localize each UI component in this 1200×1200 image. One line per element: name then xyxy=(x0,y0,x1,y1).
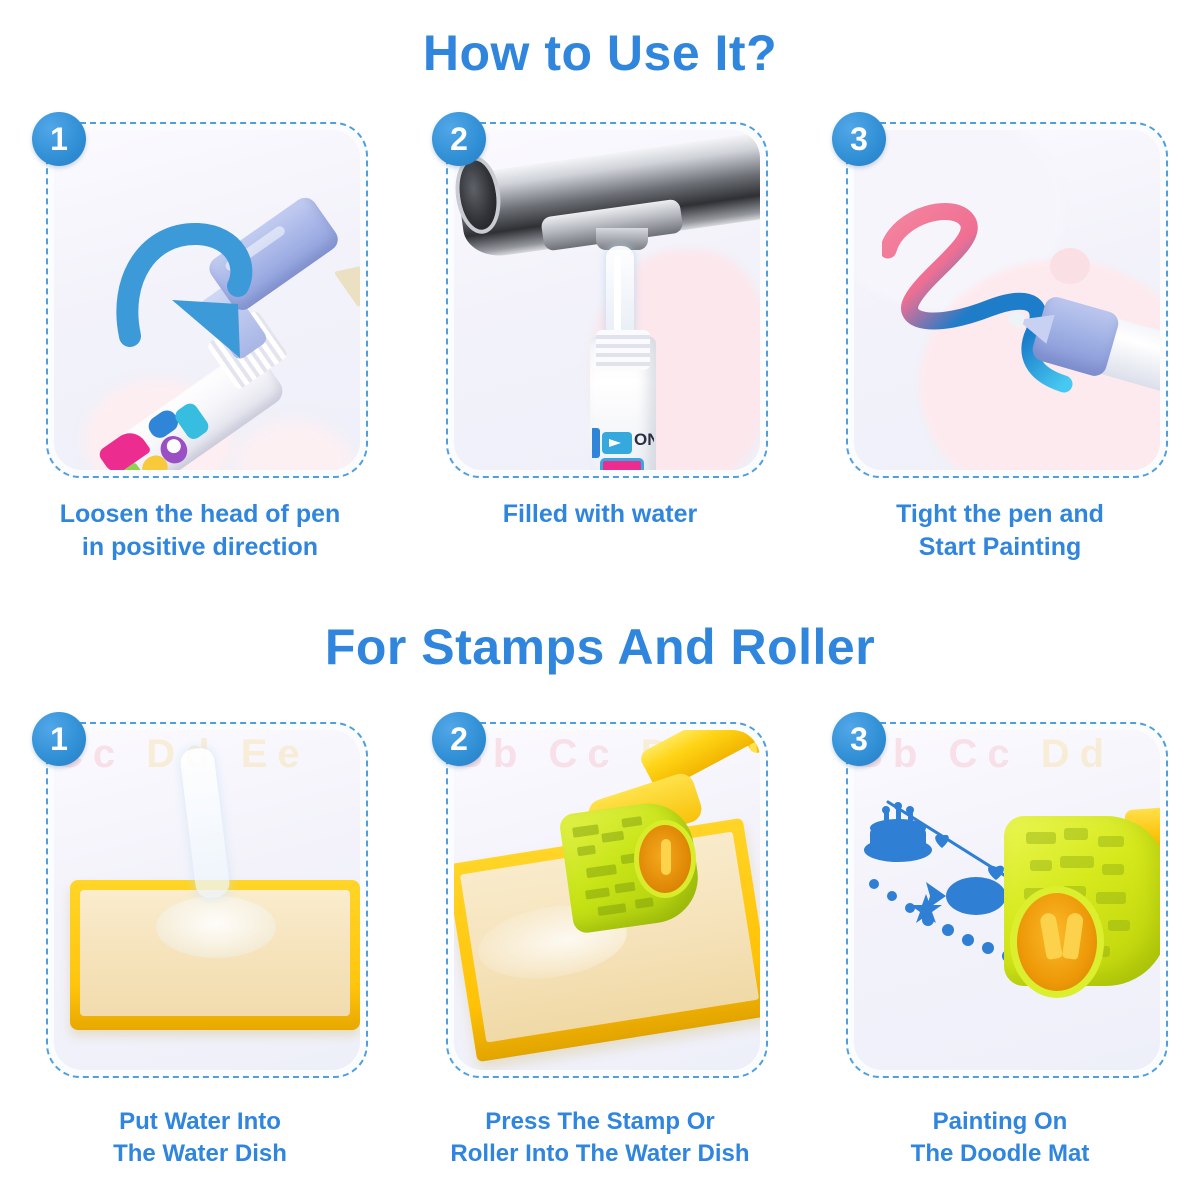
step-3-caption: Tight the pen and Start Painting xyxy=(810,498,1190,565)
section-title-for-stamps-and-roller: For Stamps And Roller xyxy=(0,622,1200,672)
step-badge-4: 1 xyxy=(32,712,86,766)
step-1-photo-pen-loosen xyxy=(54,130,360,470)
step-3-panel xyxy=(846,122,1168,478)
pen-felt-tip xyxy=(333,242,360,308)
step-6-caption: Painting On The Doodle Mat xyxy=(810,1106,1190,1170)
pen-barrel-artwork xyxy=(97,385,229,470)
step-badge-2: 2 xyxy=(432,112,486,166)
stamp-roller xyxy=(562,758,760,978)
rotation-arrow-icon xyxy=(112,208,282,368)
step-card-1: 1 xyxy=(0,112,400,565)
mat-letter: Cc xyxy=(948,732,1019,776)
water-dish xyxy=(70,880,360,1030)
step-6-panel: Bb Cc Dd xyxy=(846,722,1168,1078)
step-2-panel-wrap: 2 ON xyxy=(432,112,768,478)
label-blue-mark xyxy=(592,428,600,458)
step-card-6: 3 Bb Cc Dd xyxy=(800,712,1200,1170)
step-5-panel: Bb Cc Dd xyxy=(446,722,768,1078)
step-2-caption: Filled with water xyxy=(410,498,790,531)
step-2-panel: ON xyxy=(446,122,768,478)
mat-letter: Ee xyxy=(241,732,310,776)
step-4-caption: Put Water Into The Water Dish xyxy=(10,1106,390,1170)
hub-tooth xyxy=(1039,912,1063,960)
label-pink-block xyxy=(600,458,644,470)
step-3-photo-painting xyxy=(854,130,1160,470)
step-4-panel: Cc Dd Ee xyxy=(46,722,368,1078)
steps-row-stamps-roller: 1 Cc Dd Ee xyxy=(0,712,1200,1170)
water-splash xyxy=(156,896,276,958)
pen-barrel-threaded-neck xyxy=(596,330,650,370)
stamp-roller xyxy=(1004,808,1160,1008)
step-card-3: 3 xyxy=(800,112,1200,565)
hub-tooth xyxy=(1062,912,1084,960)
infographic-page: How to Use It? 1 xyxy=(0,0,1200,1200)
step-3-panel-wrap: 3 xyxy=(832,112,1168,478)
step-badge-3: 3 xyxy=(832,112,886,166)
step-5-panel-wrap: 2 Bb Cc Dd xyxy=(432,712,768,1078)
step-badge-1: 1 xyxy=(32,112,86,166)
mat-letter: Dd xyxy=(1041,732,1114,776)
step-5-photo-press-roller: Bb Cc Dd xyxy=(454,730,760,1070)
step-1-panel xyxy=(46,122,368,478)
step-card-4: 1 Cc Dd Ee xyxy=(0,712,400,1170)
pen-barrel-label: ON xyxy=(592,426,654,470)
steps-row-how-to-use: 1 xyxy=(0,112,1200,565)
step-4-panel-wrap: 1 Cc Dd Ee xyxy=(32,712,368,1078)
step-badge-5: 2 xyxy=(432,712,486,766)
roller-hub xyxy=(634,820,696,898)
label-arrow-icon xyxy=(602,432,632,454)
roller-hub xyxy=(1010,886,1104,998)
step-1-panel-wrap: 1 xyxy=(32,112,368,478)
doodle-mat-letters: Bb Cc Dd xyxy=(854,732,1160,777)
step-card-5: 2 Bb Cc Dd xyxy=(400,712,800,1170)
step-card-2: 2 ON xyxy=(400,112,800,565)
step-1-caption: Loosen the head of pen in positive direc… xyxy=(10,498,390,565)
label-on-text: ON xyxy=(634,430,654,450)
step-2-photo-faucet-fill: ON xyxy=(454,130,760,470)
step-4-photo-fill-dish: Cc Dd Ee xyxy=(54,730,360,1070)
step-badge-6: 3 xyxy=(832,712,886,766)
step-6-panel-wrap: 3 Bb Cc Dd xyxy=(832,712,1168,1078)
step-5-caption: Press The Stamp Or Roller Into The Water… xyxy=(410,1106,790,1170)
section-title-how-to-use: How to Use It? xyxy=(0,28,1200,78)
step-6-photo-print-on-mat: Bb Cc Dd xyxy=(854,730,1160,1070)
